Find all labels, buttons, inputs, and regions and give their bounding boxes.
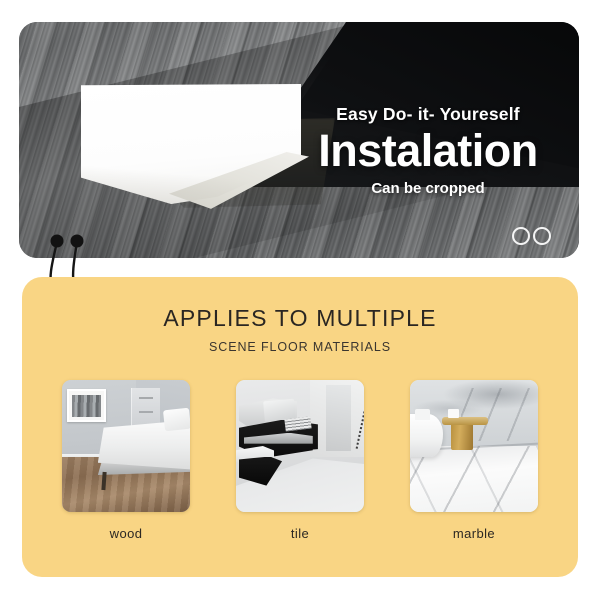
material-card-list: wood tile bbox=[62, 380, 538, 541]
product-infographic: Easy Do- it- Youreself Instalation Can b… bbox=[0, 0, 600, 600]
thumbnail-tile-room[interactable] bbox=[236, 380, 364, 512]
thumbnail-marble-room[interactable] bbox=[410, 380, 538, 512]
material-card-wood[interactable]: wood bbox=[62, 380, 190, 541]
pin-head-1-icon bbox=[51, 235, 64, 248]
marble-room-bathtub bbox=[410, 414, 443, 456]
marble-room-cup bbox=[448, 409, 458, 418]
hero-subtitle: Can be cropped bbox=[295, 180, 561, 197]
material-card-marble[interactable]: marble bbox=[410, 380, 538, 541]
thumbnail-wood-room[interactable] bbox=[62, 380, 190, 512]
hero-title: Instalation bbox=[295, 128, 561, 174]
material-label-marble: marble bbox=[410, 526, 538, 541]
hero-text-block: Easy Do- it- Youreself Instalation Can b… bbox=[295, 104, 561, 197]
panel-title: APPLIES TO MULTIPLE bbox=[22, 305, 578, 332]
carousel-dot-1-icon[interactable] bbox=[512, 227, 530, 245]
wood-room-bed-leg bbox=[101, 472, 107, 491]
material-label-wood: wood bbox=[62, 526, 190, 541]
marble-room-soap-dish bbox=[415, 409, 430, 420]
material-card-tile[interactable]: tile bbox=[236, 380, 364, 541]
carousel-dot-2-icon[interactable] bbox=[533, 227, 551, 245]
materials-panel: APPLIES TO MULTIPLE SCENE FLOOR MATERIAL… bbox=[22, 277, 578, 577]
panel-subtitle: SCENE FLOOR MATERIALS bbox=[22, 340, 578, 354]
pin-head-2-icon bbox=[71, 235, 84, 248]
hero-eyebrow: Easy Do- it- Youreself bbox=[295, 104, 561, 125]
marble-room-gold-stool-top bbox=[442, 417, 488, 425]
wood-room-pillow bbox=[163, 408, 190, 432]
carousel-dots[interactable] bbox=[512, 227, 551, 245]
marble-room-gold-stool bbox=[451, 421, 473, 450]
material-label-tile: tile bbox=[236, 526, 364, 541]
wood-room-wall-art bbox=[67, 389, 106, 422]
hero-panel: Easy Do- it- Youreself Instalation Can b… bbox=[19, 22, 579, 258]
